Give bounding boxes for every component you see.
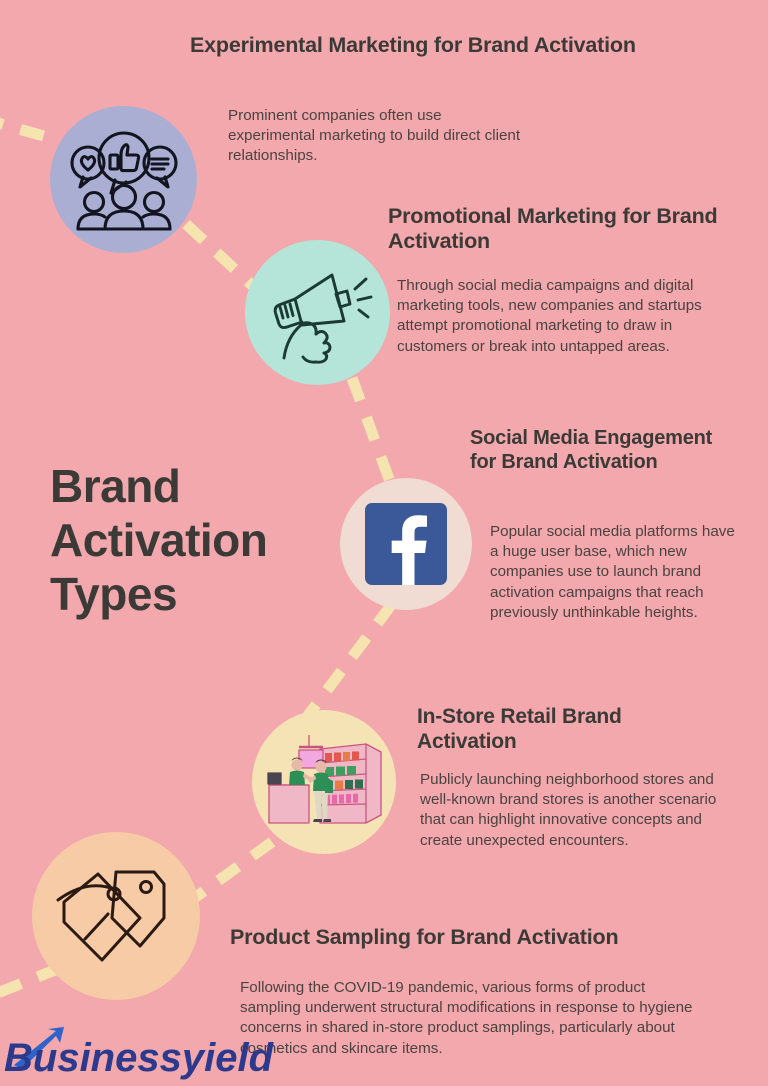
- icon-circle-social-media-engagement: [340, 478, 472, 610]
- connector-segment-3-4: [300, 604, 392, 726]
- infographic-poster: Experimental Marketing for Brand Activat…: [0, 0, 768, 1086]
- section-heading-product-sampling: Product Sampling for Brand Activation: [230, 925, 730, 950]
- businessyield-logo[interactable]: Businessyield: [4, 1025, 214, 1083]
- connector-segment-entry: [0, 118, 58, 140]
- section-heading-promotional-marketing: Promotional Marketing for Brand Activati…: [388, 204, 728, 255]
- section-body-social-media-engagement: Popular social media platforms have a hu…: [490, 522, 745, 623]
- section-heading-in-store-retail: In-Store Retail Brand Activation: [417, 705, 717, 755]
- icon-circle-product-sampling: [32, 832, 200, 1000]
- section-body-promotional-marketing: Through social media campaigns and digit…: [397, 276, 739, 357]
- page-title-line-3: Types: [50, 568, 350, 622]
- people-reactions-icon: [69, 128, 179, 232]
- section-body-product-sampling: Following the COVID-19 pandemic, various…: [240, 978, 710, 1059]
- section-body-experimental-marketing: Prominent companies often use experiment…: [228, 106, 528, 167]
- page-title: Brand Activation Types: [50, 460, 350, 621]
- retail-store-icon: [263, 727, 385, 837]
- icon-circle-experimental-marketing: [50, 106, 197, 253]
- page-title-line-2: Activation: [50, 514, 350, 568]
- section-body-in-store-retail: Publicly launching neighborhood stores a…: [420, 770, 730, 851]
- icon-circle-promotional-marketing: [245, 240, 390, 385]
- price-tags-icon: [54, 856, 178, 976]
- section-heading-experimental-marketing: Experimental Marketing for Brand Activat…: [190, 33, 642, 58]
- icon-circle-in-store-retail: [252, 710, 396, 854]
- logo-text: Businessyield: [4, 1036, 275, 1080]
- megaphone-icon: [262, 259, 374, 367]
- connector-segment-exit: [0, 968, 60, 1000]
- section-heading-social-media-engagement: Social Media Engagement for Brand Activa…: [470, 427, 740, 474]
- page-title-line-1: Brand: [50, 460, 350, 514]
- facebook-icon: [365, 503, 447, 585]
